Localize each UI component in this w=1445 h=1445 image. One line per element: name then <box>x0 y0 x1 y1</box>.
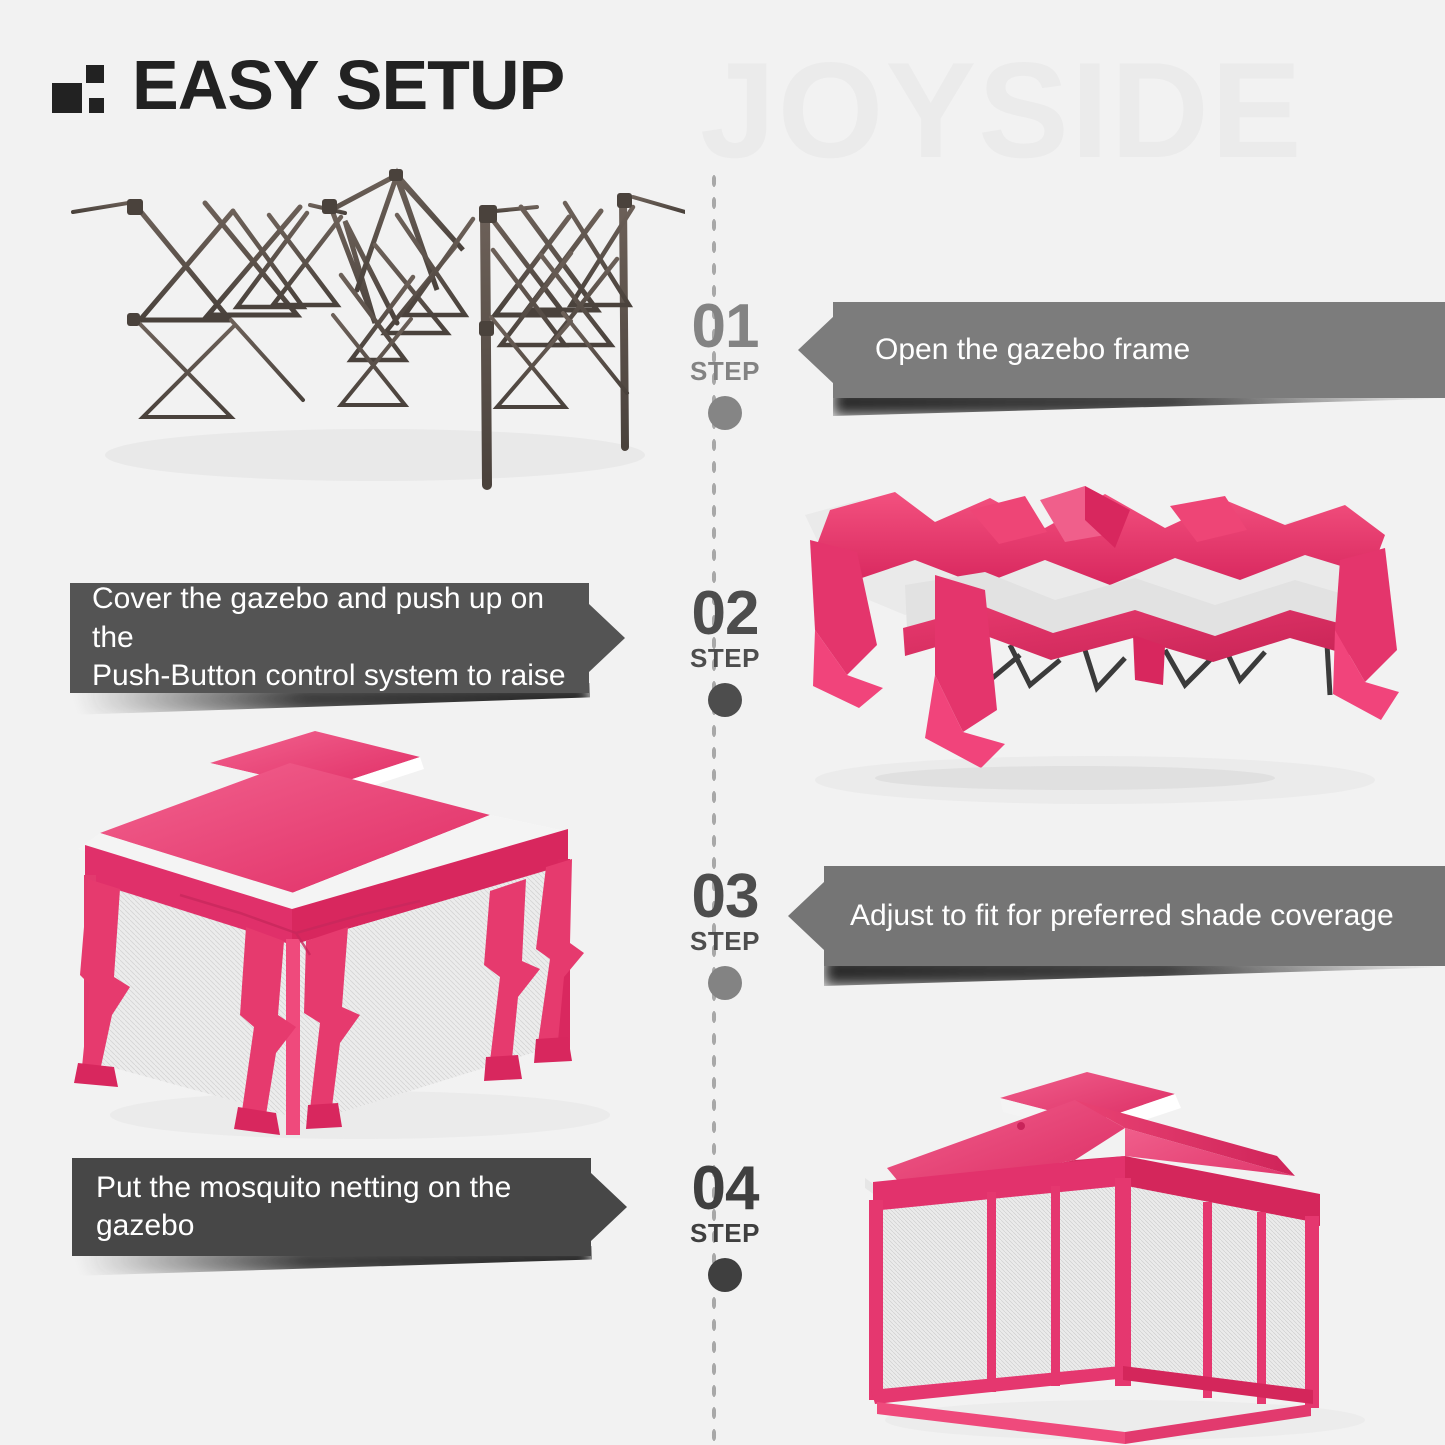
callout-text-02-line2: Push-Button control system to raise <box>92 657 566 695</box>
brand-watermark: JOYSIDE <box>700 42 1304 178</box>
callout-arrow-01 <box>798 316 834 384</box>
gazebo-frame-photo <box>45 155 685 490</box>
callout-body-03: Adjust to fit for preferred shade covera… <box>824 866 1445 966</box>
step-marker-03: 03 STEP <box>660 868 790 1000</box>
step-number-01: 01 <box>660 298 790 355</box>
gazebo-raised-photo <box>60 715 660 1155</box>
step-marker-01: 01 STEP <box>660 298 790 430</box>
callout-arrow-04 <box>591 1173 627 1241</box>
step-number-03: 03 <box>660 868 790 925</box>
step-marker-02: 02 STEP <box>660 585 790 717</box>
callout-text-01: Open the gazebo frame <box>875 331 1190 369</box>
callout-body-04: Put the mosquito netting on the gazebo <box>72 1158 591 1256</box>
callout-step-02[interactable]: Cover the gazebo and push up on the Push… <box>70 583 625 693</box>
infographic-page: JOYSIDE EASY SETUP <box>0 0 1445 1445</box>
step-dot-01 <box>708 396 742 430</box>
step-label-04: STEP <box>660 1219 790 1248</box>
callout-text-04: Put the mosquito netting on the gazebo <box>96 1169 567 1246</box>
callout-step-03[interactable]: Adjust to fit for preferred shade covera… <box>788 866 1445 966</box>
callout-body-02: Cover the gazebo and push up on the Push… <box>70 583 589 693</box>
gazebo-canopy-draped-photo <box>785 480 1400 810</box>
callout-text-02-line1: Cover the gazebo and push up on the <box>92 580 567 657</box>
callout-step-04[interactable]: Put the mosquito netting on the gazebo <box>72 1158 627 1256</box>
callout-arrow-02 <box>589 604 625 672</box>
step-number-04: 04 <box>660 1160 790 1217</box>
page-header: EASY SETUP <box>52 52 564 119</box>
step-label-01: STEP <box>660 357 790 386</box>
squares-logo-icon <box>52 61 110 119</box>
step-dot-04 <box>708 1258 742 1292</box>
callout-arrow-03 <box>788 882 824 950</box>
gazebo-netting-photo <box>825 1060 1420 1445</box>
callout-body-01: Open the gazebo frame <box>833 302 1445 398</box>
step-number-02: 02 <box>660 585 790 642</box>
step-marker-04: 04 STEP <box>660 1160 790 1292</box>
step-dot-02 <box>708 683 742 717</box>
callout-step-01[interactable]: Open the gazebo frame <box>798 302 1445 398</box>
page-title: EASY SETUP <box>132 52 564 119</box>
step-label-02: STEP <box>660 644 790 673</box>
callout-text-03: Adjust to fit for preferred shade covera… <box>850 897 1394 935</box>
step-dot-03 <box>708 966 742 1000</box>
step-label-03: STEP <box>660 927 790 956</box>
